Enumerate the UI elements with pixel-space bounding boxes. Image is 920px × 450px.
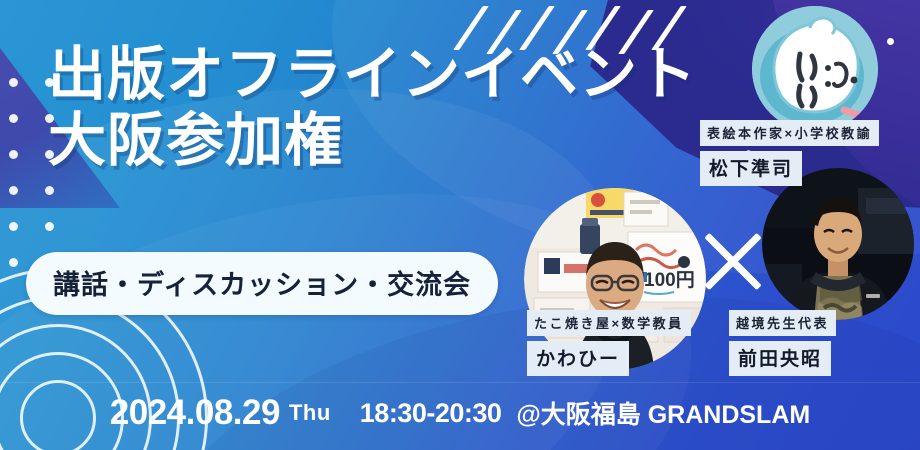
event-datebar: 2024.08.29 Thu 18:30-20:30 @大阪福島 GRANDSL… bbox=[0, 382, 920, 450]
page-title: 出版オフラインイベント 大阪参加権 bbox=[48, 42, 697, 174]
speaker-tag-matsushita: 表絵本作家×小学校教諭 松下準司 bbox=[700, 120, 879, 186]
x-cross-icon bbox=[700, 228, 766, 294]
event-banner: 出版オフラインイベント 大阪参加権 講話・ディスカッション・交流会 bbox=[0, 0, 920, 450]
event-date: 2024.08.29 bbox=[110, 393, 280, 433]
headline-line-1: 出版オフラインイベント bbox=[48, 42, 697, 108]
event-venue: @大阪福島 GRANDSLAM bbox=[516, 395, 810, 431]
event-time: 18:30-20:30 bbox=[360, 398, 502, 429]
dot-icon bbox=[45, 222, 54, 231]
dot-icon bbox=[45, 186, 54, 195]
headline-line-2: 大阪参加権 bbox=[48, 108, 697, 174]
speaker-tag-maeda: 越境先生代表 前田央昭 bbox=[729, 310, 836, 376]
avatar-matsushita bbox=[752, 6, 878, 132]
speaker-role: 越境先生代表 bbox=[729, 310, 836, 336]
dot-icon bbox=[9, 78, 18, 87]
dot-icon bbox=[9, 186, 18, 195]
subtitle-pill: 講話・ディスカッション・交流会 bbox=[26, 252, 498, 315]
speaker-name: 前田央昭 bbox=[729, 341, 831, 376]
dot-icon bbox=[9, 222, 18, 231]
speaker-name: 松下準司 bbox=[700, 151, 802, 186]
dot-icon bbox=[9, 114, 18, 123]
speaker-role: 表絵本作家×小学校教諭 bbox=[700, 120, 879, 146]
event-day-of-week: Thu bbox=[289, 400, 331, 426]
dot-icon bbox=[9, 150, 18, 159]
speaker-role: たこ焼き屋×数学教員 bbox=[527, 310, 691, 336]
svg-text:100円: 100円 bbox=[644, 270, 695, 291]
sparkle-dot-icon bbox=[887, 38, 894, 45]
datebar-divider bbox=[0, 382, 920, 383]
speaker-name: かわひー bbox=[527, 341, 629, 376]
avatar-maeda bbox=[762, 168, 914, 320]
dot-icon bbox=[9, 258, 18, 267]
speaker-tag-kawahi: たこ焼き屋×数学教員 かわひー bbox=[527, 310, 691, 376]
